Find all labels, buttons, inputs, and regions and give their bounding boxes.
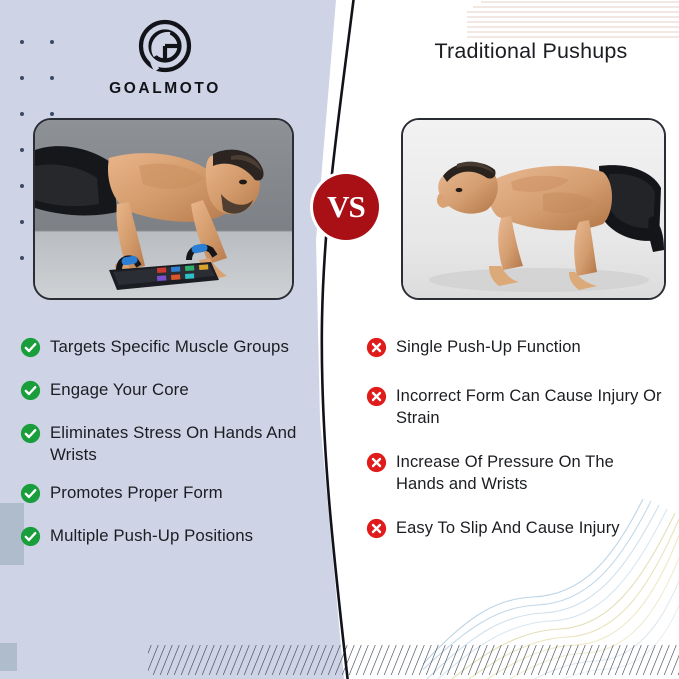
infographic-canvas: GOALMOTO <box>0 0 679 679</box>
list-item-label: Incorrect Form Can Cause Injury Or Strai… <box>396 385 666 429</box>
list-item: Engage Your Core <box>20 379 332 406</box>
benefits-list: Targets Specific Muscle Groups Engage Yo… <box>20 336 332 568</box>
list-item-label: Promotes Proper Form <box>50 482 223 504</box>
page-title: Traditional Pushups <box>400 38 662 65</box>
check-circle-icon <box>20 483 41 509</box>
photo-man-traditional-pushup-icon <box>403 120 664 298</box>
check-circle-icon <box>20 526 41 552</box>
list-item-label: Multiple Push-Up Positions <box>50 525 253 547</box>
list-item: Incorrect Form Can Cause Injury Or Strai… <box>366 385 666 429</box>
horizontal-stripe-pattern <box>467 0 679 42</box>
x-circle-icon <box>366 337 387 363</box>
list-item-label: Targets Specific Muscle Groups <box>50 336 289 358</box>
check-circle-icon <box>20 380 41 406</box>
x-circle-icon <box>366 386 387 412</box>
list-item-label: Single Push-Up Function <box>396 336 581 358</box>
comparison-photo-traditional-pushup <box>401 118 666 300</box>
diagonal-hatch-pattern <box>148 635 679 679</box>
list-item: Multiple Push-Up Positions <box>20 525 332 552</box>
x-circle-icon <box>366 452 387 478</box>
photo-man-pushup-on-board-icon <box>35 120 292 298</box>
list-item: Promotes Proper Form <box>20 482 332 509</box>
side-tab-marker-bottom <box>0 643 17 671</box>
list-item-label: Eliminates Stress On Hands And Wrists <box>50 422 332 466</box>
check-circle-icon <box>20 423 41 449</box>
product-photo-pushup-board <box>33 118 294 300</box>
vs-badge: VS <box>313 174 379 240</box>
vs-badge-label: VS <box>327 191 365 222</box>
check-circle-icon <box>20 337 41 363</box>
x-circle-icon <box>366 518 387 544</box>
list-item: Single Push-Up Function <box>366 336 666 363</box>
list-item: Targets Specific Muscle Groups <box>20 336 332 363</box>
list-item: Eliminates Stress On Hands And Wrists <box>20 422 332 466</box>
brand-logo: GOALMOTO <box>0 18 330 98</box>
brand-wordmark: GOALMOTO <box>0 80 330 98</box>
goalmoto-circle-g-logo-icon <box>137 18 193 74</box>
list-item-label: Engage Your Core <box>50 379 189 401</box>
